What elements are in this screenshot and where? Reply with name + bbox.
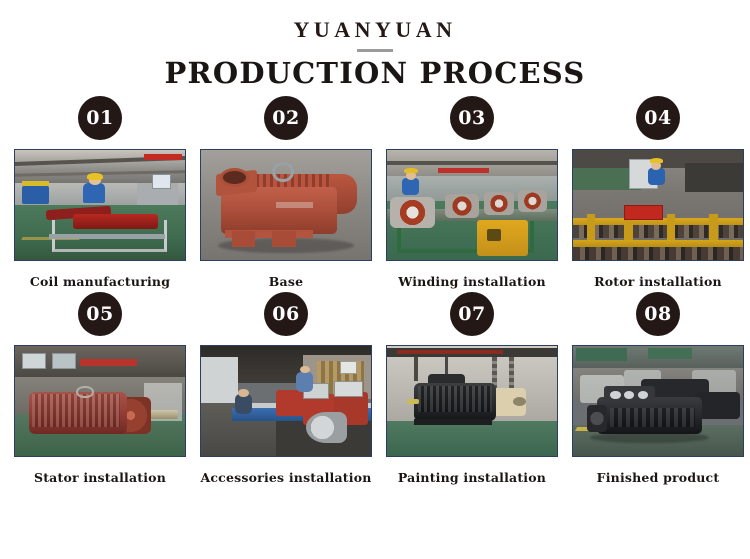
step-number-badge: 03 bbox=[450, 96, 494, 140]
step-number-badge: 08 bbox=[636, 292, 680, 336]
step-photo-stator-installation[interactable] bbox=[14, 345, 186, 457]
process-step-02[interactable]: 02 Base bbox=[200, 96, 372, 289]
process-grid: 01 Coil manufacturing 02 bbox=[0, 96, 750, 485]
page-title: PRODUCTION PROCESS bbox=[0, 58, 750, 90]
page-header: YUANYUAN PRODUCTION PROCESS bbox=[0, 0, 750, 90]
process-step-08[interactable]: 08 Finished product bbox=[572, 292, 744, 485]
step-number-badge: 05 bbox=[78, 292, 122, 336]
step-photo-base[interactable] bbox=[200, 149, 372, 261]
process-step-05[interactable]: 05 Stator installation bbox=[14, 292, 186, 485]
step-caption: Accessories installation bbox=[200, 470, 371, 485]
process-row-1: 01 Coil manufacturing 02 bbox=[0, 96, 750, 289]
process-step-03[interactable]: 03 Winding installation bbox=[386, 96, 558, 289]
title-divider bbox=[357, 49, 393, 52]
production-process-page: YUANYUAN PRODUCTION PROCESS 01 bbox=[0, 0, 750, 559]
step-caption: Stator installation bbox=[34, 470, 166, 485]
process-step-01[interactable]: 01 Coil manufacturing bbox=[14, 96, 186, 289]
step-caption: Base bbox=[269, 274, 303, 289]
step-caption: Coil manufacturing bbox=[30, 274, 170, 289]
step-photo-painting-installation[interactable] bbox=[386, 345, 558, 457]
step-number-badge: 02 bbox=[264, 96, 308, 140]
step-photo-rotor-installation[interactable] bbox=[572, 149, 744, 261]
step-photo-finished-product[interactable] bbox=[572, 345, 744, 457]
step-caption: Winding installation bbox=[398, 274, 546, 289]
process-step-06[interactable]: 06 Accessories installation bbox=[200, 292, 372, 485]
process-step-04[interactable]: 04 Rotor installation bbox=[572, 96, 744, 289]
process-step-07[interactable]: 07 Painting installation bbox=[386, 292, 558, 485]
step-photo-coil-manufacturing[interactable] bbox=[14, 149, 186, 261]
step-photo-accessories-installation[interactable] bbox=[200, 345, 372, 457]
step-number-badge: 01 bbox=[78, 96, 122, 140]
step-caption: Rotor installation bbox=[594, 274, 722, 289]
step-photo-winding-installation[interactable] bbox=[386, 149, 558, 261]
step-number-badge: 04 bbox=[636, 96, 680, 140]
step-number-badge: 07 bbox=[450, 292, 494, 336]
step-caption: Finished product bbox=[597, 470, 720, 485]
step-caption: Painting installation bbox=[398, 470, 546, 485]
brand-name: YUANYUAN bbox=[0, 18, 750, 42]
step-number-badge: 06 bbox=[264, 292, 308, 336]
process-row-2: 05 Stator installation 06 bbox=[0, 292, 750, 485]
